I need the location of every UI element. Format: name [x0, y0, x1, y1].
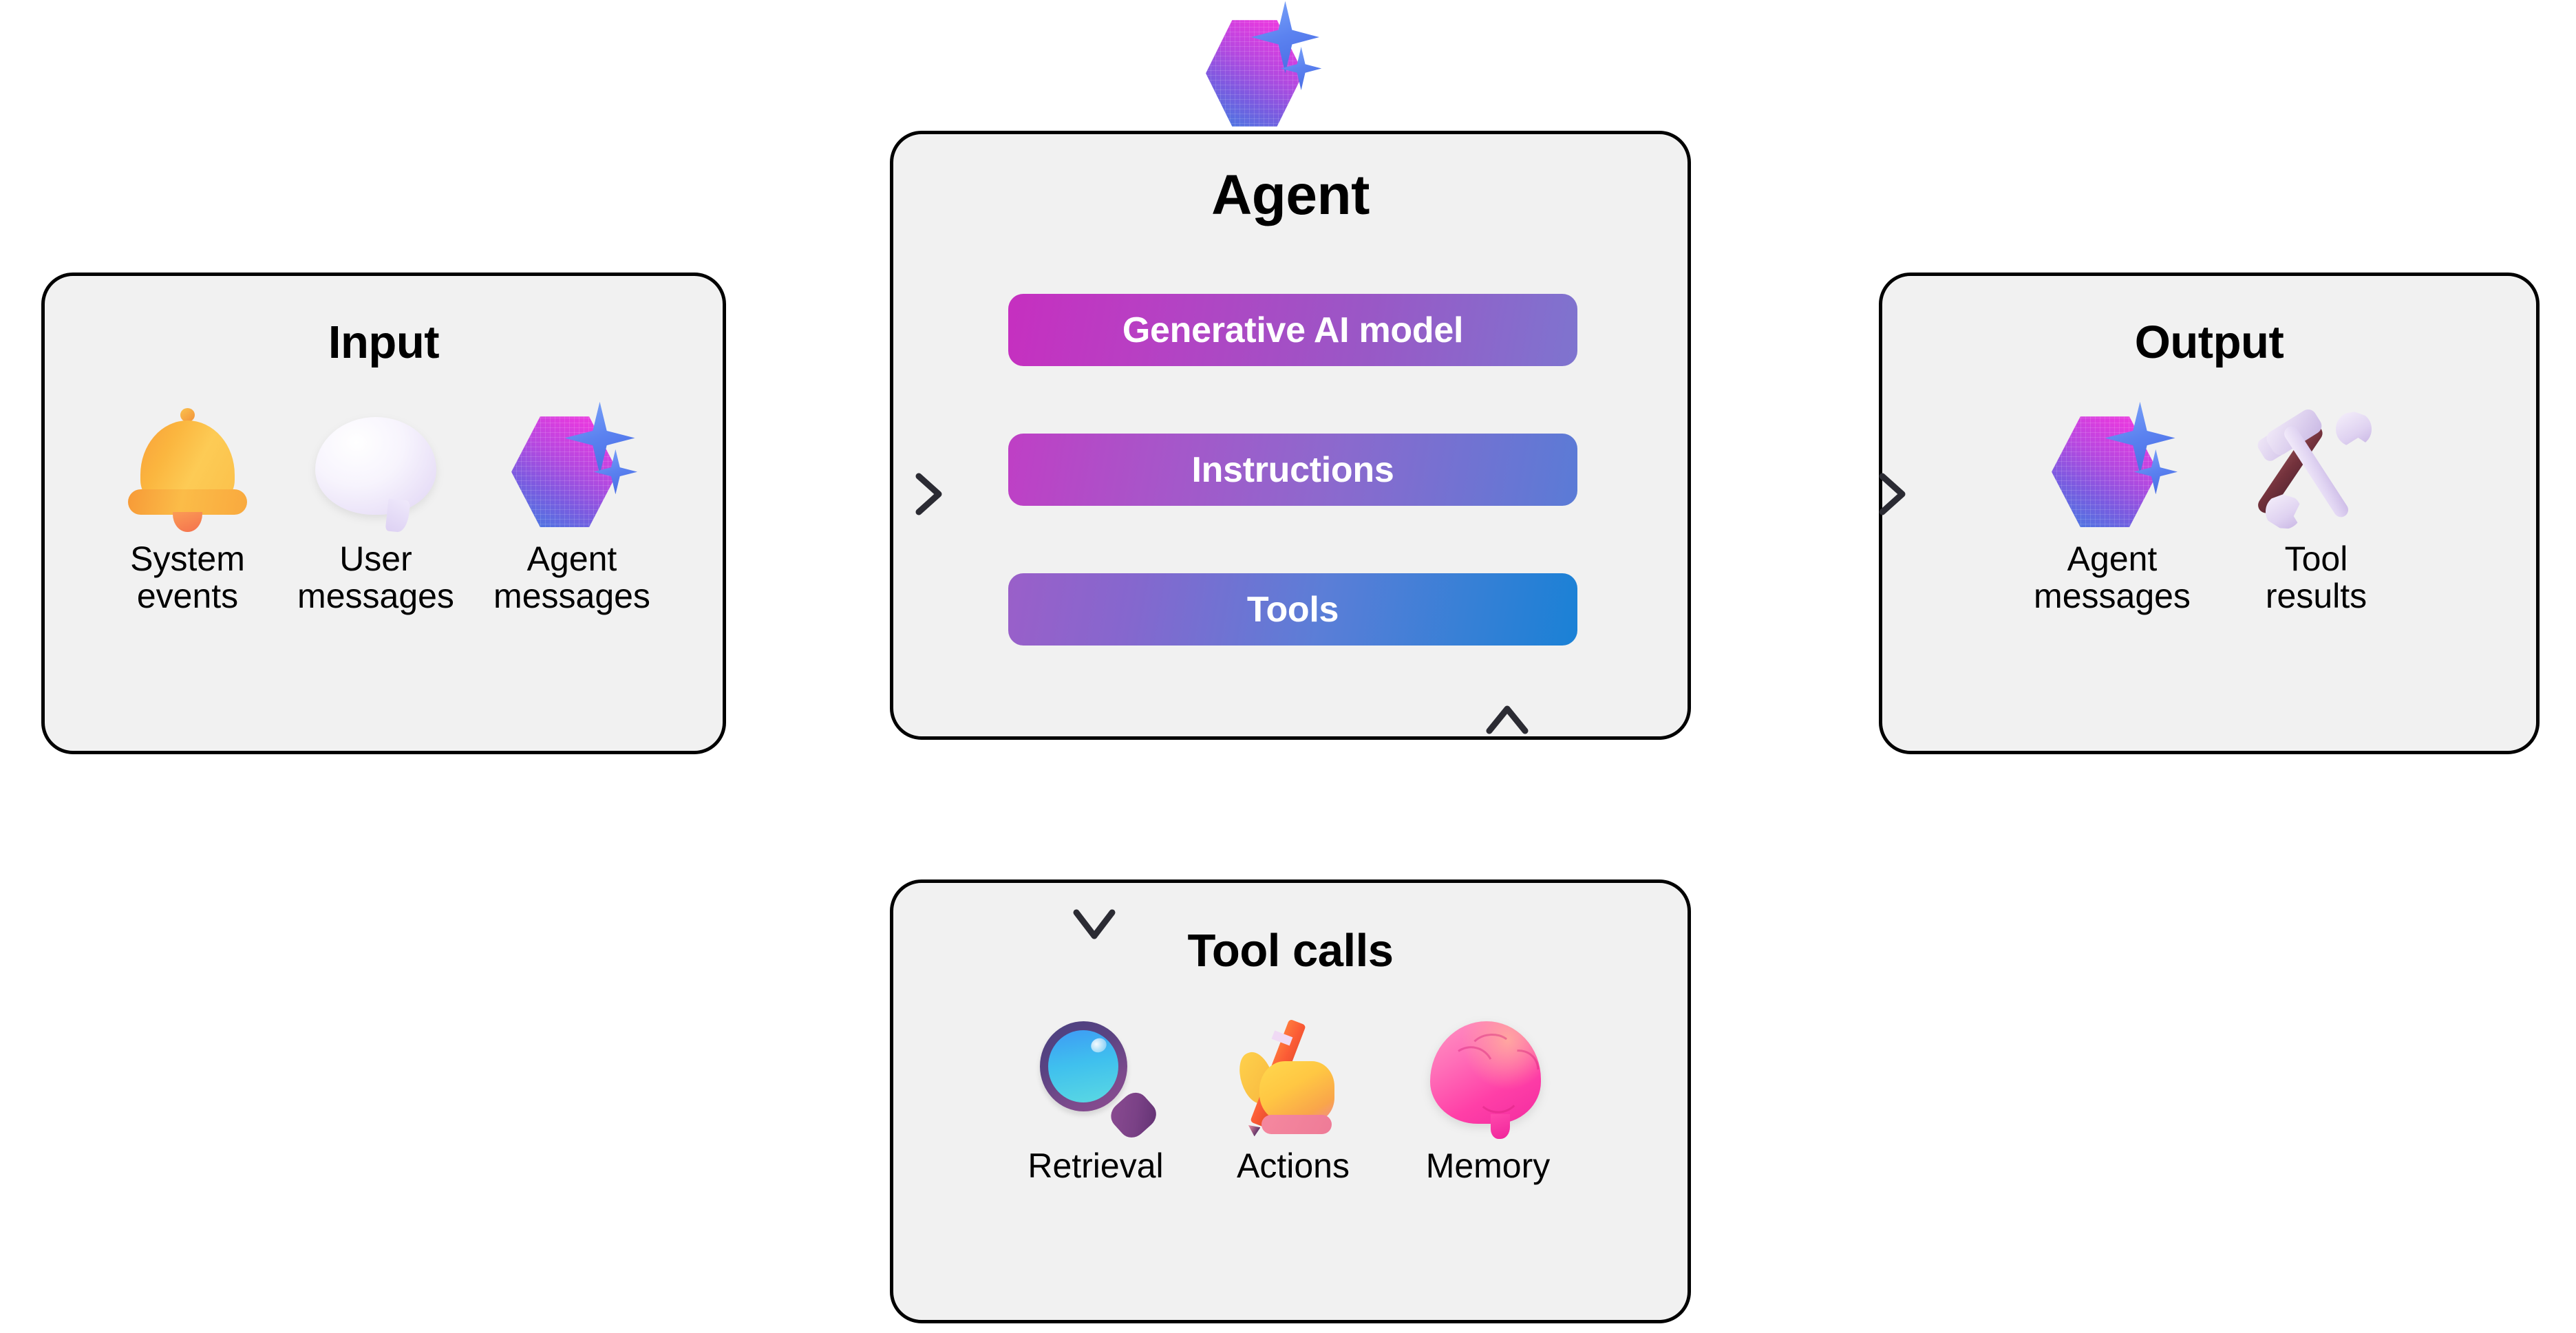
input-item-system-events: System events	[114, 407, 262, 615]
agent-pill-tools[interactable]: Tools	[1008, 573, 1577, 646]
speech-bubble-icon	[315, 407, 436, 532]
agent-pill-label: Generative AI model	[1122, 310, 1463, 351]
agent-panel-title: Agent	[893, 163, 1688, 228]
tool-calls-panel-title: Tool calls	[893, 924, 1688, 977]
input-item-agent-messages: Agent messages	[490, 407, 654, 615]
output-item-tool-results: Tool results	[2242, 407, 2391, 615]
output-panel-title: Output	[1882, 316, 2536, 369]
connector-agent-to-tool-calls	[1053, 702, 1136, 963]
input-panel: Input System events User messages Agent …	[41, 273, 726, 754]
agent-hexagon-icon	[2052, 407, 2173, 532]
agent-hexagon-icon	[511, 407, 632, 532]
connector-input-to-agent	[688, 454, 964, 537]
output-item-label: Tool results	[2266, 540, 2367, 615]
agent-panel: Agent Generative AI model Instructions T…	[890, 131, 1691, 740]
agent-pill-instructions[interactable]: Instructions	[1008, 434, 1577, 506]
output-item-agent-messages: Agent messages	[2028, 407, 2197, 615]
tool-call-item-label: Memory	[1426, 1147, 1551, 1184]
input-panel-title: Input	[45, 316, 723, 369]
writing-hand-icon	[1233, 1014, 1354, 1139]
input-item-user-messages: User messages	[297, 407, 454, 615]
input-item-label: User messages	[297, 540, 454, 615]
hammer-wrench-icon	[2256, 407, 2377, 532]
bell-icon	[127, 407, 248, 532]
agent-pill-label: Instructions	[1192, 449, 1394, 491]
agent-pill-label: Tools	[1247, 589, 1339, 630]
connector-tool-calls-to-agent	[1466, 695, 1548, 1019]
output-item-label: Agent messages	[2034, 540, 2191, 615]
agent-hexagon-badge-icon	[1206, 8, 1319, 129]
tool-calls-icon-row: Retrieval Actions Memory	[941, 1014, 1639, 1184]
tool-call-item-retrieval: Retrieval	[1006, 1014, 1185, 1184]
output-panel: Output Agent messages Tool results	[1879, 273, 2540, 754]
tool-call-item-label: Actions	[1237, 1147, 1350, 1184]
agent-pill-generative-ai-model[interactable]: Generative AI model	[1008, 294, 1577, 366]
magnifier-icon	[1035, 1014, 1156, 1139]
input-item-label: System events	[130, 540, 245, 615]
tool-call-item-actions: Actions	[1209, 1014, 1378, 1184]
tool-calls-panel: Tool calls Retrieval Actions	[890, 879, 1691, 1323]
input-icon-row: System events User messages Agent messag…	[65, 407, 702, 615]
tool-call-item-memory: Memory	[1401, 1014, 1575, 1184]
input-item-label: Agent messages	[493, 540, 650, 615]
tool-call-item-label: Retrieval	[1028, 1147, 1163, 1184]
output-icon-row: Agent messages Tool results	[1903, 407, 2515, 615]
connector-agent-to-output	[1652, 454, 1927, 537]
brain-icon	[1427, 1014, 1548, 1139]
